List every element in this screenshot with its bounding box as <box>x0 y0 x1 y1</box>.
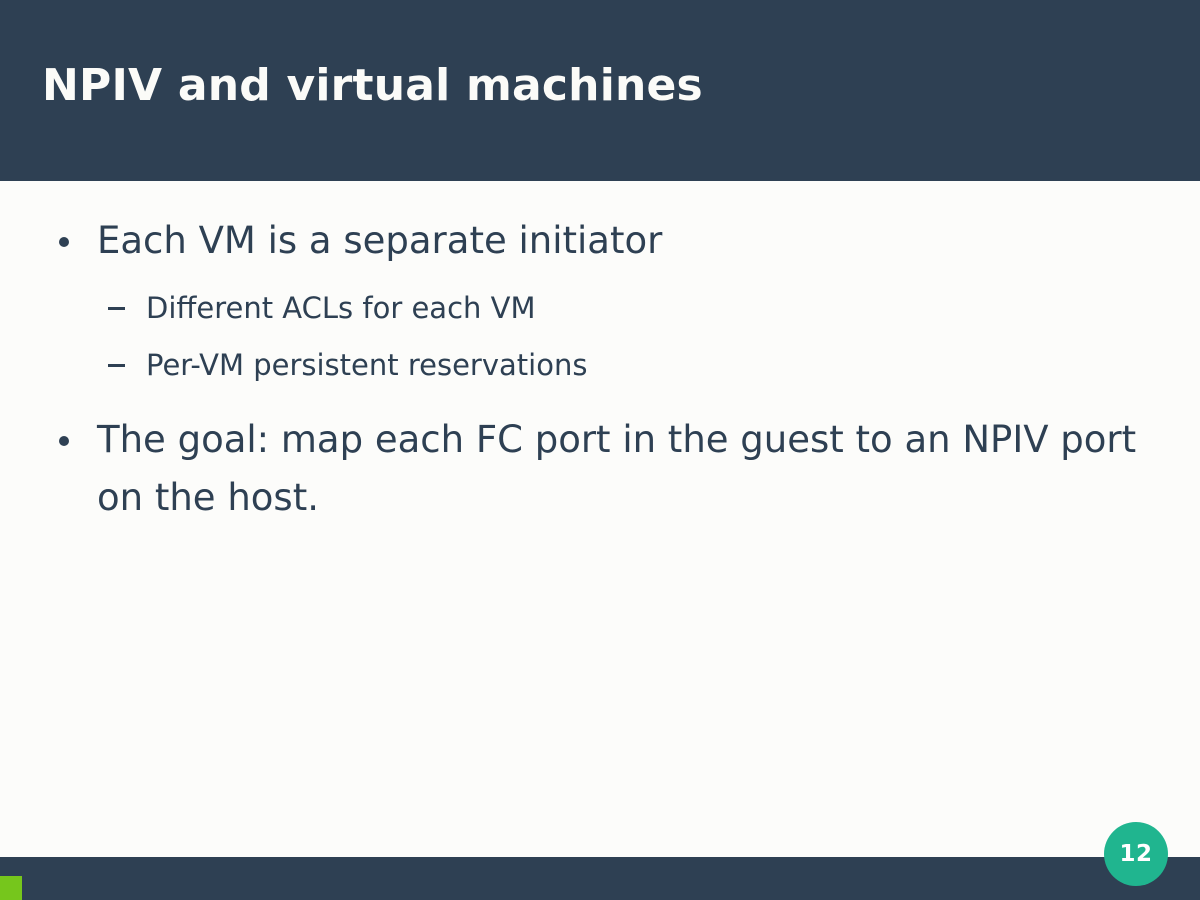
bullet-text: Each VM is a separate initiator <box>97 212 1142 270</box>
slide-body: Each VM is a separate initiator Differen… <box>0 181 1200 857</box>
slide-header-band: NPIV and virtual machines <box>0 0 1200 181</box>
presentation-slide: NPIV and virtual machines Each VM is a s… <box>0 0 1200 900</box>
bullet-dot-icon <box>59 237 69 247</box>
slide-title: NPIV and virtual machines <box>42 58 1142 113</box>
bullet-item-level1: Each VM is a separate initiator <box>0 212 1200 270</box>
bullet-dot-icon <box>59 436 69 446</box>
bullet-list: Each VM is a separate initiator Differen… <box>0 212 1200 528</box>
bullet-item-level1: The goal: map each FC port in the guest … <box>0 411 1200 528</box>
bullet-text: The goal: map each FC port in the guest … <box>97 411 1142 528</box>
page-number-badge: 12 <box>1104 822 1168 886</box>
page-number-label: 12 <box>1119 843 1152 866</box>
en-dash-icon <box>108 307 125 310</box>
slide-footer-band <box>0 857 1200 900</box>
bullet-item-level2: Different ACLs for each VM <box>0 284 1200 333</box>
bullet-text: Per-VM persistent reservations <box>146 341 1191 390</box>
footer-accent-square <box>0 876 22 900</box>
bullet-text: Different ACLs for each VM <box>146 284 1191 333</box>
en-dash-icon <box>108 364 125 367</box>
bullet-item-level2: Per-VM persistent reservations <box>0 341 1200 390</box>
